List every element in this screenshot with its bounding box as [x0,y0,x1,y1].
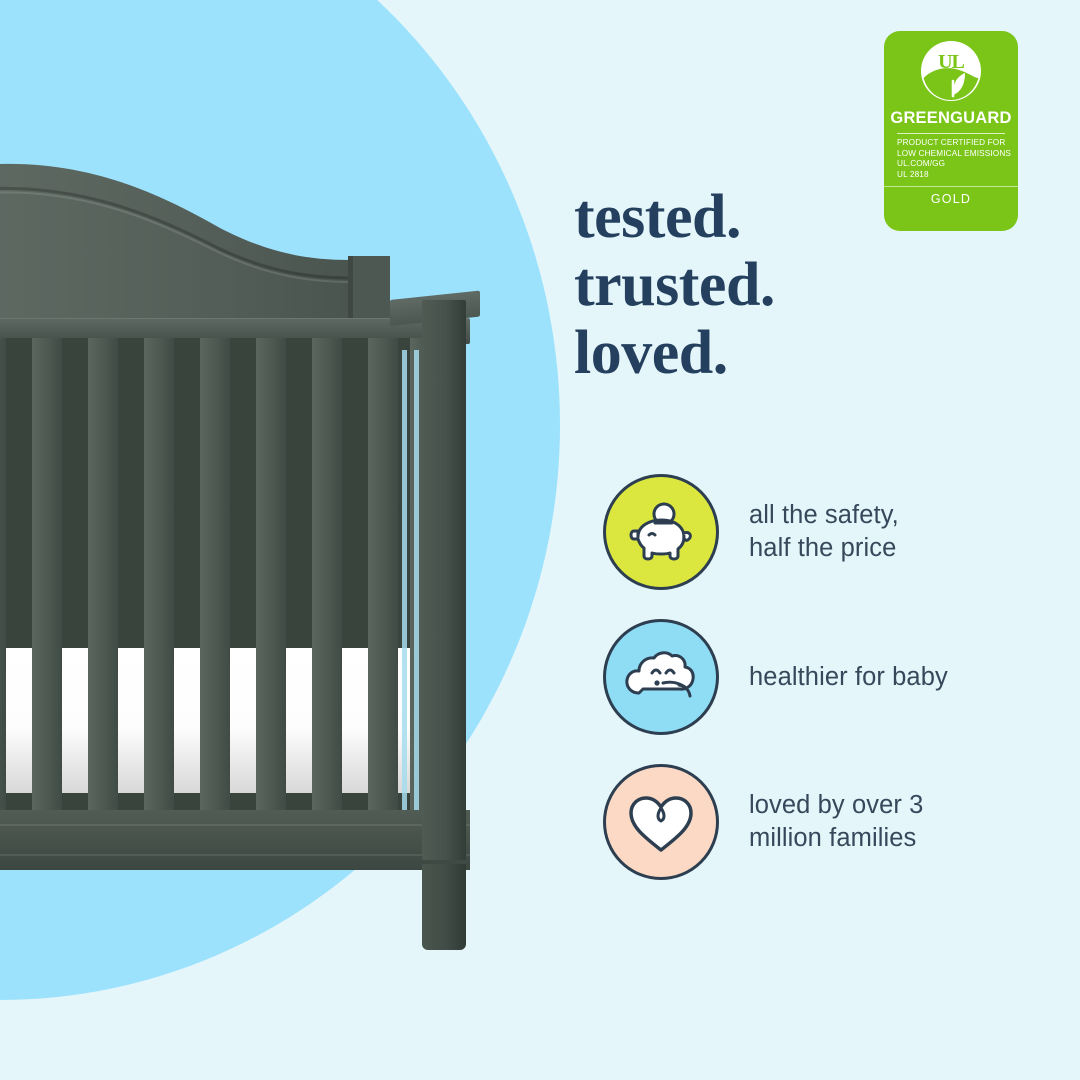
badge-grade-label: GOLD [884,192,1018,206]
badge-cert-line: UL.COM/GG [897,159,1018,170]
badge-cert-line: LOW CHEMICAL EMISSIONS [897,149,1018,160]
crib-corner-post [422,300,466,860]
crib-slat [312,338,342,838]
badge-cert-line: UL 2818 [897,170,1018,181]
feature-item-healthier: healthier for baby [603,618,1023,736]
cloud-icon-circle [603,619,719,735]
crib-slat [0,338,6,838]
convertible-crib-product [0,150,500,960]
crib-slat [200,338,230,838]
feature-label-line: all the safety, [749,499,899,532]
badge-divider-bottom [884,186,1018,187]
crib-slat [88,338,118,838]
feature-label-loved: loved by over 3 million families [749,789,923,855]
feature-label-safety-price: all the safety, half the price [749,499,899,565]
feature-item-safety-price: all the safety, half the price [603,473,1023,591]
heart-icon-circle [603,764,719,880]
marketing-image: tested. trusted. loved. UL GREENGUARD PR… [0,0,1080,1080]
feature-label-line: half the price [749,532,899,565]
badge-divider [897,133,1005,134]
crib-headboard [0,150,390,335]
badge-title: GREENGUARD [884,109,1018,128]
crib-far-slat [402,350,407,810]
crib-slat [368,338,398,838]
feature-label-line: million families [749,822,923,855]
feature-list: all the safety, half the price healthier… [603,473,1023,908]
piggy-bank-icon-circle [603,474,719,590]
headline-line-2: trusted. [574,251,1004,319]
badge-certification-text: PRODUCT CERTIFIED FOR LOW CHEMICAL EMISS… [884,138,1018,180]
crib-slat [256,338,286,838]
crib-slat [144,338,174,838]
cloud-blowing-icon [621,641,701,713]
crib-far-slat [414,350,419,810]
feature-item-loved: loved by over 3 million families [603,763,1023,881]
greenguard-certification-badge: UL GREENGUARD PRODUCT CERTIFIED FOR LOW … [884,31,1018,231]
feature-label-line: healthier for baby [749,661,948,694]
ul-leaf-icon: UL [920,40,982,102]
svg-text:UL: UL [938,51,964,73]
crib-slat-panel [0,338,436,838]
crib-slat [32,338,62,838]
crib-leg [422,864,466,950]
feature-label-healthier: healthier for baby [749,661,948,694]
piggy-bank-icon [622,493,700,571]
badge-cert-line: PRODUCT CERTIFIED FOR [897,138,1018,149]
crib-base-rail [0,810,470,870]
heart-icon [623,786,699,858]
headline-line-3: loved. [574,319,1004,387]
feature-label-line: loved by over 3 [749,789,923,822]
